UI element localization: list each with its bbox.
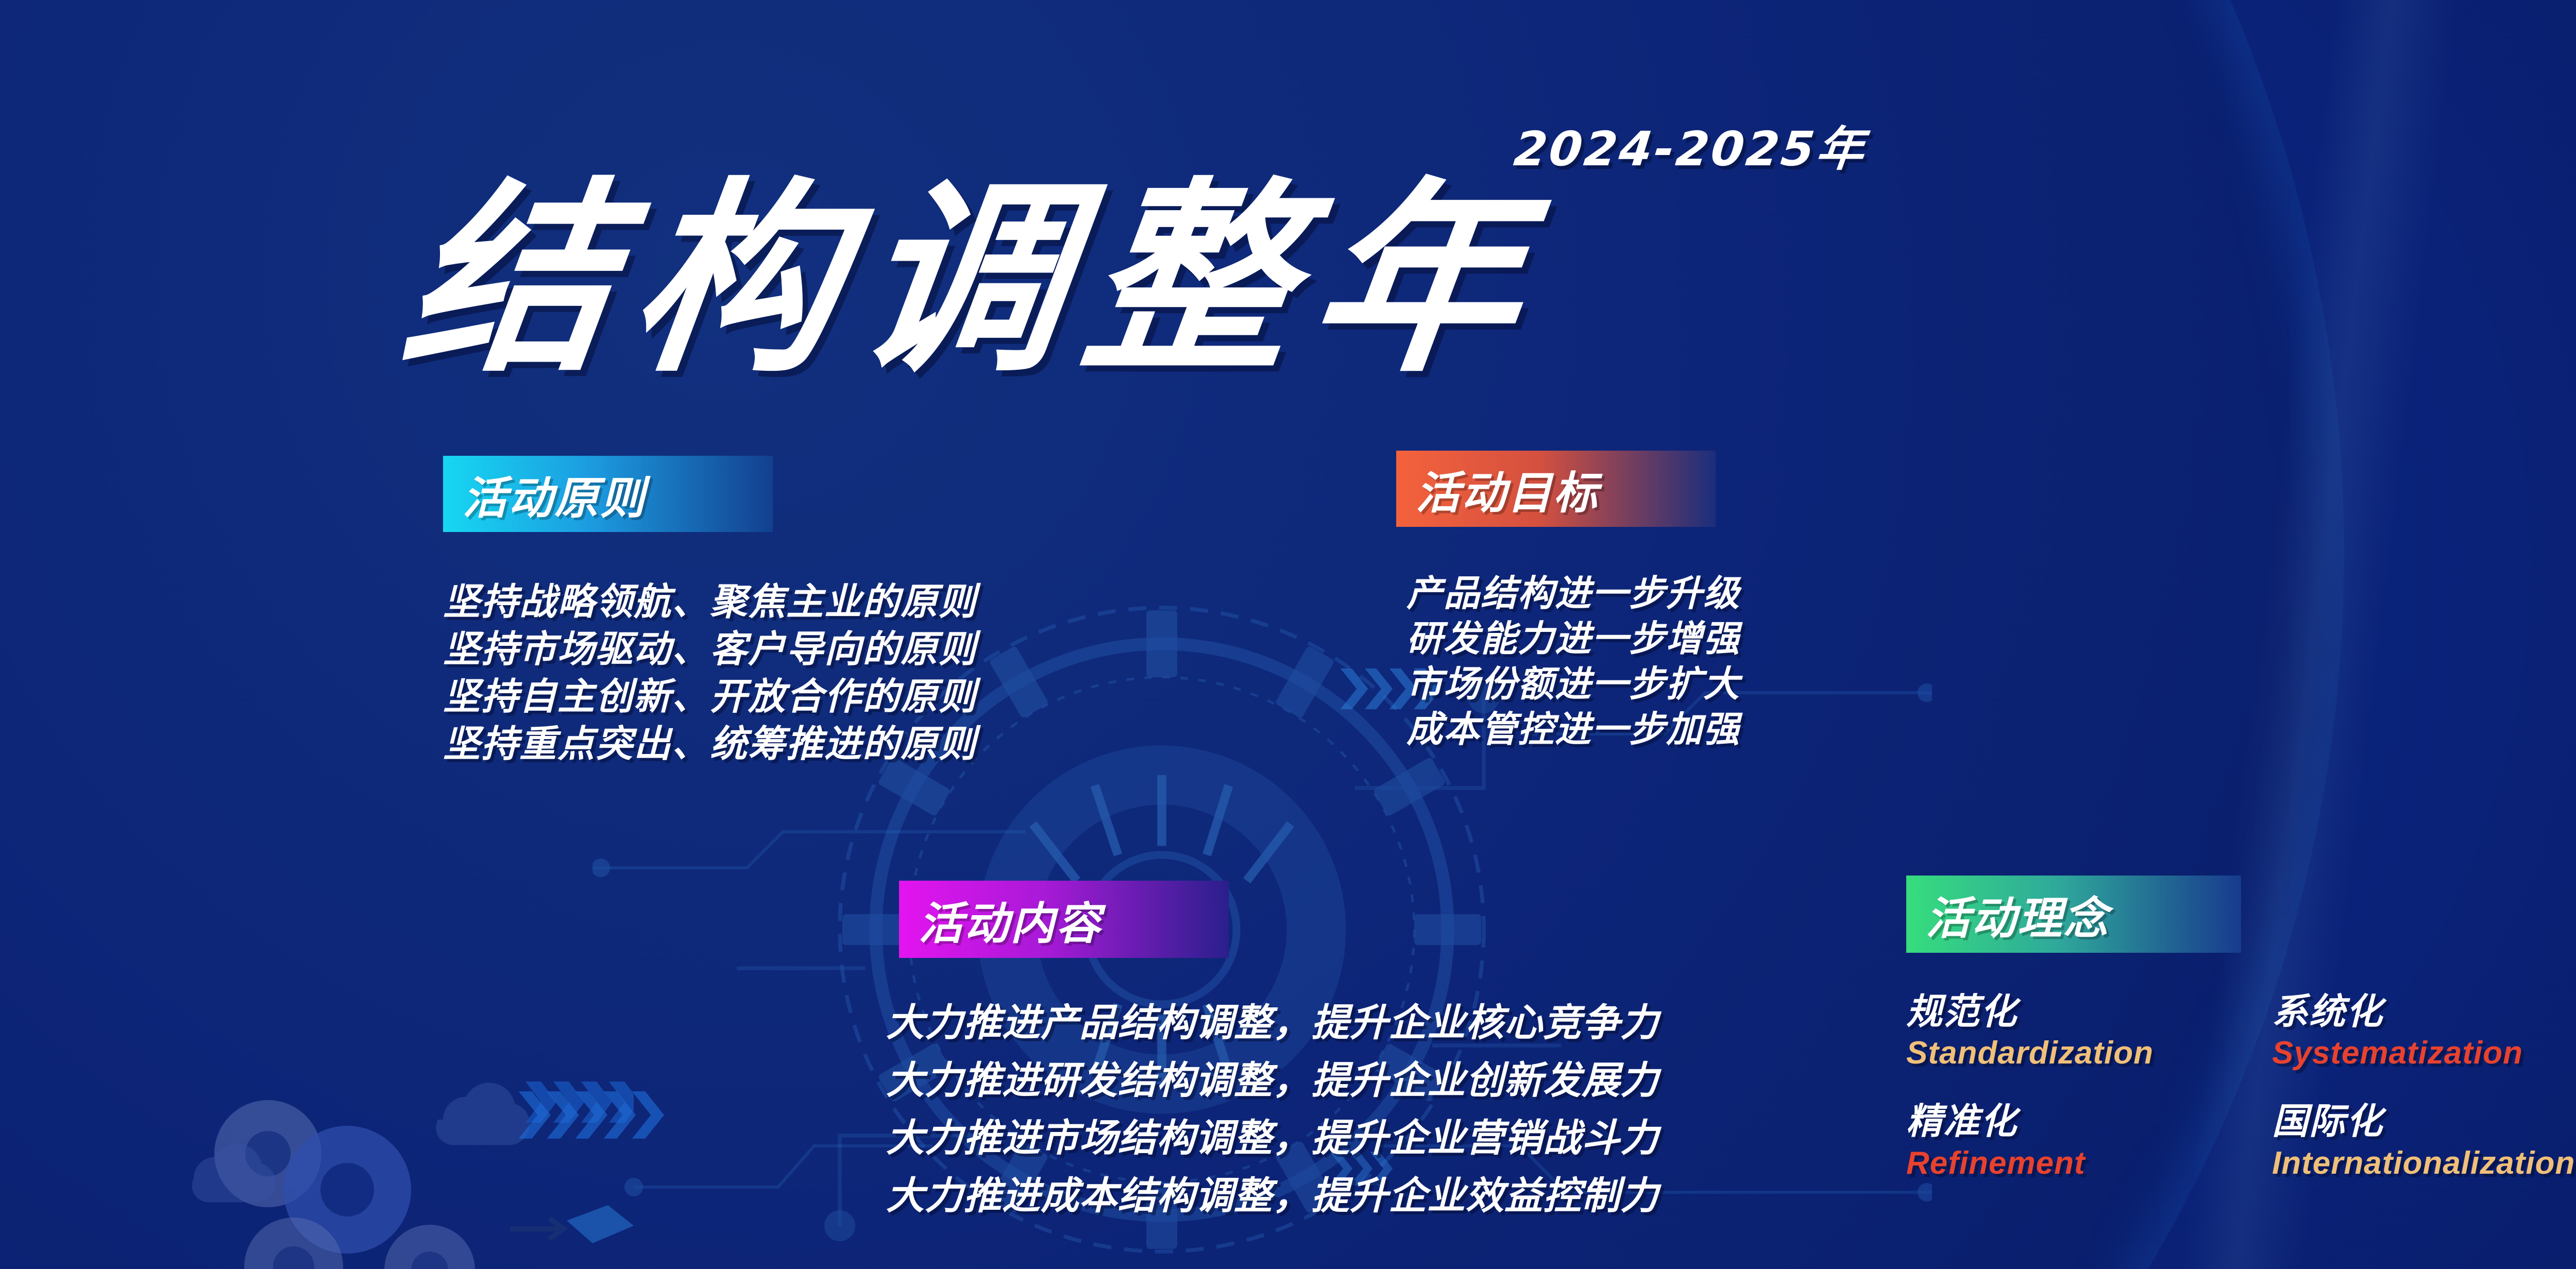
list-item: 大力推进研发结构调整，提升企业创新发展力: [886, 1052, 1659, 1109]
content-list: 大力推进产品结构调整，提升企业核心竞争力 大力推进研发结构调整，提升企业创新发展…: [886, 994, 1659, 1225]
idea-label-cn: 精准化: [1906, 1101, 2272, 1141]
badge-content: 活动内容: [899, 881, 1229, 958]
year-label: 2024-2025年: [1511, 111, 1870, 179]
goal-list: 产品结构进一步升级 研发能力进一步增强 市场份额进一步扩大 成本管控进一步加强: [1406, 571, 1740, 752]
principle-list: 坚持战略领航、聚焦主业的原则 坚持市场驱动、客户导向的原则 坚持自主创新、开放合…: [443, 578, 977, 767]
list-item: 坚持自主创新、开放合作的原则: [443, 673, 977, 720]
list-item: 坚持市场驱动、客户导向的原则: [443, 625, 977, 673]
list-item: 市场份额进一步扩大: [1406, 661, 1740, 707]
idea-label-en: Refinement: [1906, 1145, 2272, 1181]
list-item: 大力推进产品结构调整，提升企业核心竞争力: [886, 994, 1659, 1052]
list-item: 产品结构进一步升级: [1406, 571, 1740, 616]
list-item: 研发能力进一步增强: [1406, 616, 1740, 661]
idea-item-2: 精准化 Refinement: [1906, 1101, 2272, 1181]
list-item: 大力推进成本结构调整，提升企业效益控制力: [886, 1167, 1659, 1225]
idea-label-en: Systematization: [2272, 1035, 2576, 1071]
badge-principle: 活动原则: [443, 456, 773, 532]
idea-label-cn: 规范化: [1906, 991, 2272, 1032]
list-item: 成本管控进一步加强: [1406, 707, 1740, 752]
chevron-arrows-1: [515, 1087, 711, 1143]
idea-item-3: 国际化 Internationalization: [2272, 1101, 2576, 1181]
list-item: 坚持重点突出、统筹推进的原则: [443, 720, 977, 767]
list-item: 大力推进市场结构调整，提升企业营销战斗力: [886, 1109, 1659, 1167]
poster-canvas: 2024-2025年 结构调整年 活动原则 坚持战略领航、聚焦主业的原则 坚持市…: [0, 0, 2576, 1269]
idea-label-cn: 国际化: [2272, 1101, 2576, 1141]
idea-grid: 规范化 Standardization 系统化 Systematization …: [1906, 991, 2576, 1181]
idea-label-en: Internationalization: [2272, 1145, 2576, 1181]
page-title: 结构调整年: [394, 178, 1553, 384]
badge-idea: 活动理念: [1906, 876, 2241, 953]
badge-goal: 活动目标: [1396, 451, 1716, 527]
idea-item-0: 规范化 Standardization: [1906, 991, 2272, 1071]
idea-label-cn: 系统化: [2272, 991, 2576, 1032]
list-item: 坚持战略领航、聚焦主业的原则: [443, 578, 977, 625]
idea-item-1: 系统化 Systematization: [2272, 991, 2576, 1071]
idea-label-en: Standardization: [1906, 1035, 2272, 1071]
